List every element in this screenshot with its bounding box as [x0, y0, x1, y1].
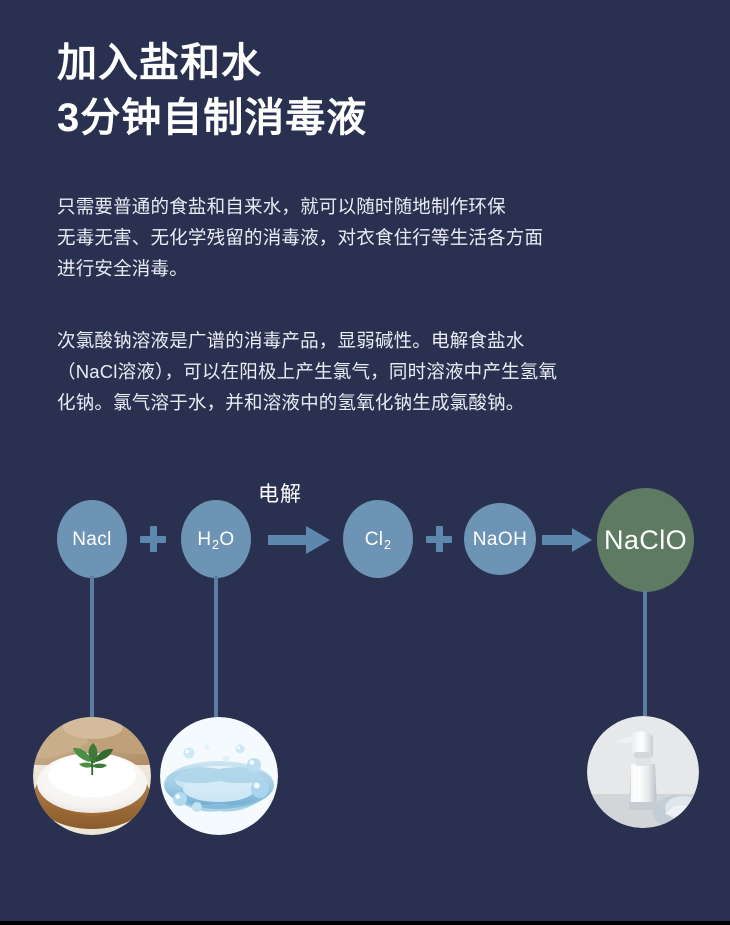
reaction-node-label: Nacl	[72, 530, 112, 549]
plus-icon	[140, 526, 166, 552]
reaction-node-naclo: NaClO	[597, 488, 694, 592]
paragraph-line: 进行安全消毒。	[57, 253, 717, 284]
headline-block: 加入盐和水 3分钟自制消毒液	[57, 36, 677, 146]
reaction-node-label: H2O	[197, 530, 234, 549]
reaction-node-label: NaClO	[604, 527, 687, 554]
reaction-node-label: Cl2	[365, 530, 392, 549]
paragraph-line: 无毒无害、无化学残留的消毒液，对衣食住行等生活各方面	[57, 222, 717, 253]
spray-bottle-photo	[587, 716, 699, 828]
reaction-arrow-product	[542, 527, 592, 553]
connector-stem-salt	[90, 576, 94, 724]
intro-paragraph: 只需要普通的食盐和自来水，就可以随时随地制作环保 无毒无害、无化学残留的消毒液，…	[57, 191, 717, 284]
paragraph-line: 次氯酸钠溶液是广谱的消毒产品，显弱碱性。电解食盐水	[57, 325, 717, 356]
water-photo	[160, 717, 278, 835]
electrolysis-caption: 电解	[258, 478, 302, 508]
paragraph-line: 化钠。氯气溶于水，并和溶液中的氢氧化钠生成氯酸钠。	[57, 387, 717, 418]
bottom-strip	[0, 921, 730, 925]
connector-stem-naclo	[643, 590, 647, 723]
chemistry-paragraph: 次氯酸钠溶液是广谱的消毒产品，显弱碱性。电解食盐水 （NaCl溶液），可以在阳极…	[57, 325, 717, 418]
paragraph-line: 只需要普通的食盐和自来水，就可以随时随地制作环保	[57, 191, 717, 222]
reaction-node-h2o: H2O	[181, 500, 251, 578]
plus-icon	[426, 526, 452, 552]
connector-stem-water	[214, 576, 218, 724]
salt-photo	[33, 717, 151, 835]
headline-line-2: 3分钟自制消毒液	[57, 91, 677, 146]
reaction-node-naoh: NaOH	[464, 503, 536, 575]
paragraph-line: （NaCl溶液），可以在阳极上产生氯气，同时溶液中产生氢氧	[57, 356, 717, 387]
headline-line-1: 加入盐和水	[57, 36, 677, 91]
chemical-reaction-diagram: 电解 Nacl H2O Cl2	[0, 470, 730, 610]
reaction-node-label: NaOH	[473, 530, 527, 549]
reaction-node-cl2: Cl2	[343, 500, 413, 578]
reaction-node-nacl: Nacl	[57, 500, 127, 578]
product-detail-page: 加入盐和水 3分钟自制消毒液 只需要普通的食盐和自来水，就可以随时随地制作环保 …	[0, 0, 730, 925]
reaction-arrow-electrolysis	[268, 525, 330, 555]
